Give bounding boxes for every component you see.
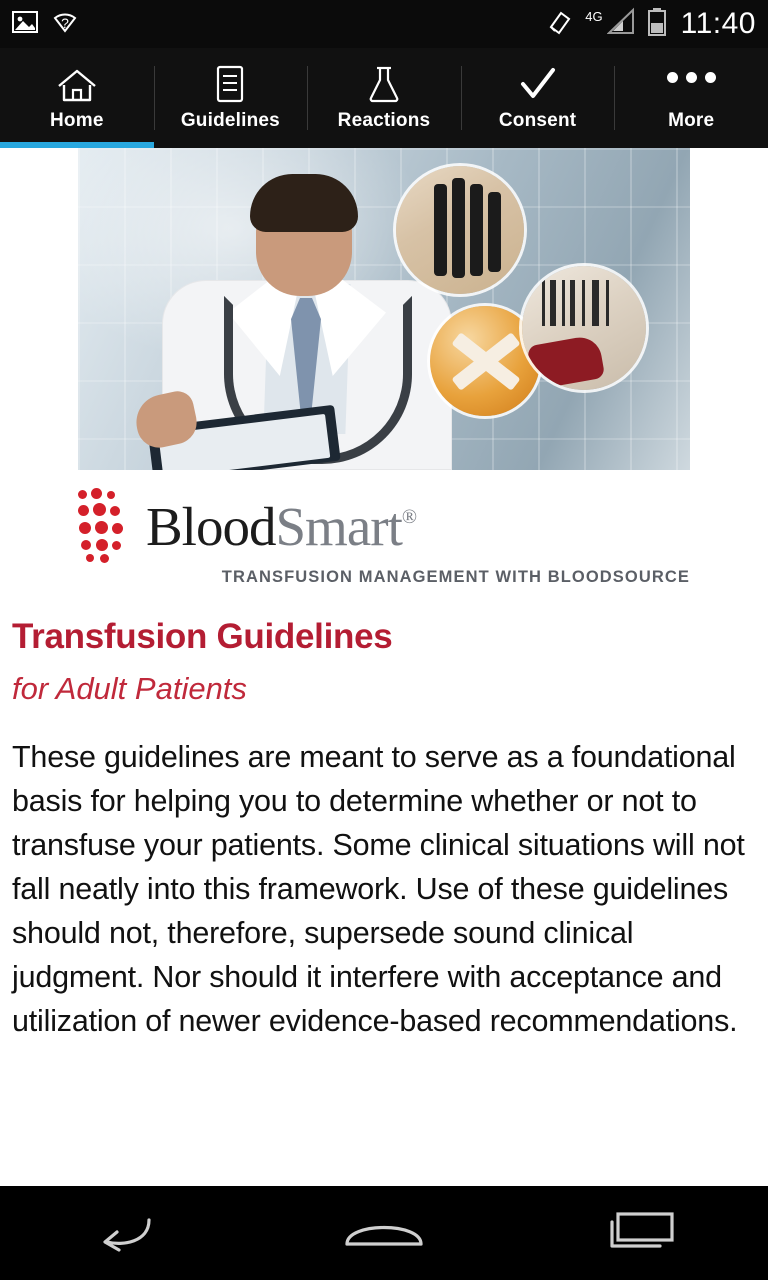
tab-home[interactable]: Home — [0, 48, 154, 148]
bloodsmart-logo: BloodSmart® — [78, 486, 690, 566]
logo-dots-icon — [78, 488, 132, 564]
tab-reactions[interactable]: Reactions — [307, 48, 461, 148]
more-dots-icon — [667, 64, 716, 106]
recents-icon — [602, 1208, 678, 1259]
home-button[interactable] — [309, 1186, 459, 1280]
page-content[interactable]: BloodSmart® TRANSFUSION MANAGEMENT WITH … — [0, 148, 768, 1186]
home-icon — [341, 1208, 427, 1259]
tab-label-reactions: Reactions — [338, 110, 431, 132]
logo-tagline: TRANSFUSION MANAGEMENT WITH BLOODSOURCE — [78, 568, 690, 587]
wifi-question-icon: ? — [52, 9, 78, 40]
back-icon — [93, 1208, 163, 1259]
battery-icon — [647, 7, 667, 42]
hero-banner-image — [78, 148, 690, 470]
status-bar-clock: 11:40 — [681, 7, 756, 41]
svg-text:?: ? — [61, 15, 69, 31]
network-type-label: 4G — [585, 9, 602, 24]
status-bar-right: 4G 11:40 — [545, 7, 756, 42]
tab-guidelines[interactable]: Guidelines — [154, 48, 308, 148]
top-tab-bar: Home Guidelines Reactions — [0, 48, 768, 148]
flask-icon — [365, 64, 403, 106]
home-icon — [55, 64, 99, 106]
checkmark-icon — [516, 64, 560, 106]
tab-label-more: More — [668, 110, 714, 132]
article-body-text: These guidelines are meant to serve as a… — [12, 735, 756, 1043]
logo-word-blood: Blood — [146, 496, 275, 557]
blood-tubes-photo — [396, 166, 524, 294]
system-navigation-bar — [0, 1186, 768, 1280]
recents-button[interactable] — [565, 1186, 715, 1280]
tab-label-home: Home — [50, 110, 104, 132]
page-subtitle: for Adult Patients — [12, 671, 756, 707]
image-icon — [12, 9, 38, 40]
status-bar: ? 4G — [0, 0, 768, 48]
page-title: Transfusion Guidelines — [12, 617, 756, 657]
tab-consent[interactable]: Consent — [461, 48, 615, 148]
phone-screen: ? 4G — [0, 0, 768, 1280]
logo-registered-mark: ® — [402, 506, 416, 528]
logo-word-smart: Smart — [275, 496, 401, 557]
document-icon — [213, 64, 247, 106]
tab-label-guidelines: Guidelines — [181, 110, 280, 132]
status-bar-left: ? — [12, 9, 545, 40]
blood-label-photo — [522, 266, 646, 390]
back-button[interactable] — [53, 1186, 203, 1280]
screenshot-icon — [545, 7, 575, 42]
doctor-hair — [250, 174, 358, 232]
signal-bars-icon — [607, 7, 637, 42]
tab-label-consent: Consent — [499, 110, 576, 132]
logo-wordmark: BloodSmart® — [146, 495, 416, 558]
tab-more[interactable]: More — [614, 48, 768, 148]
